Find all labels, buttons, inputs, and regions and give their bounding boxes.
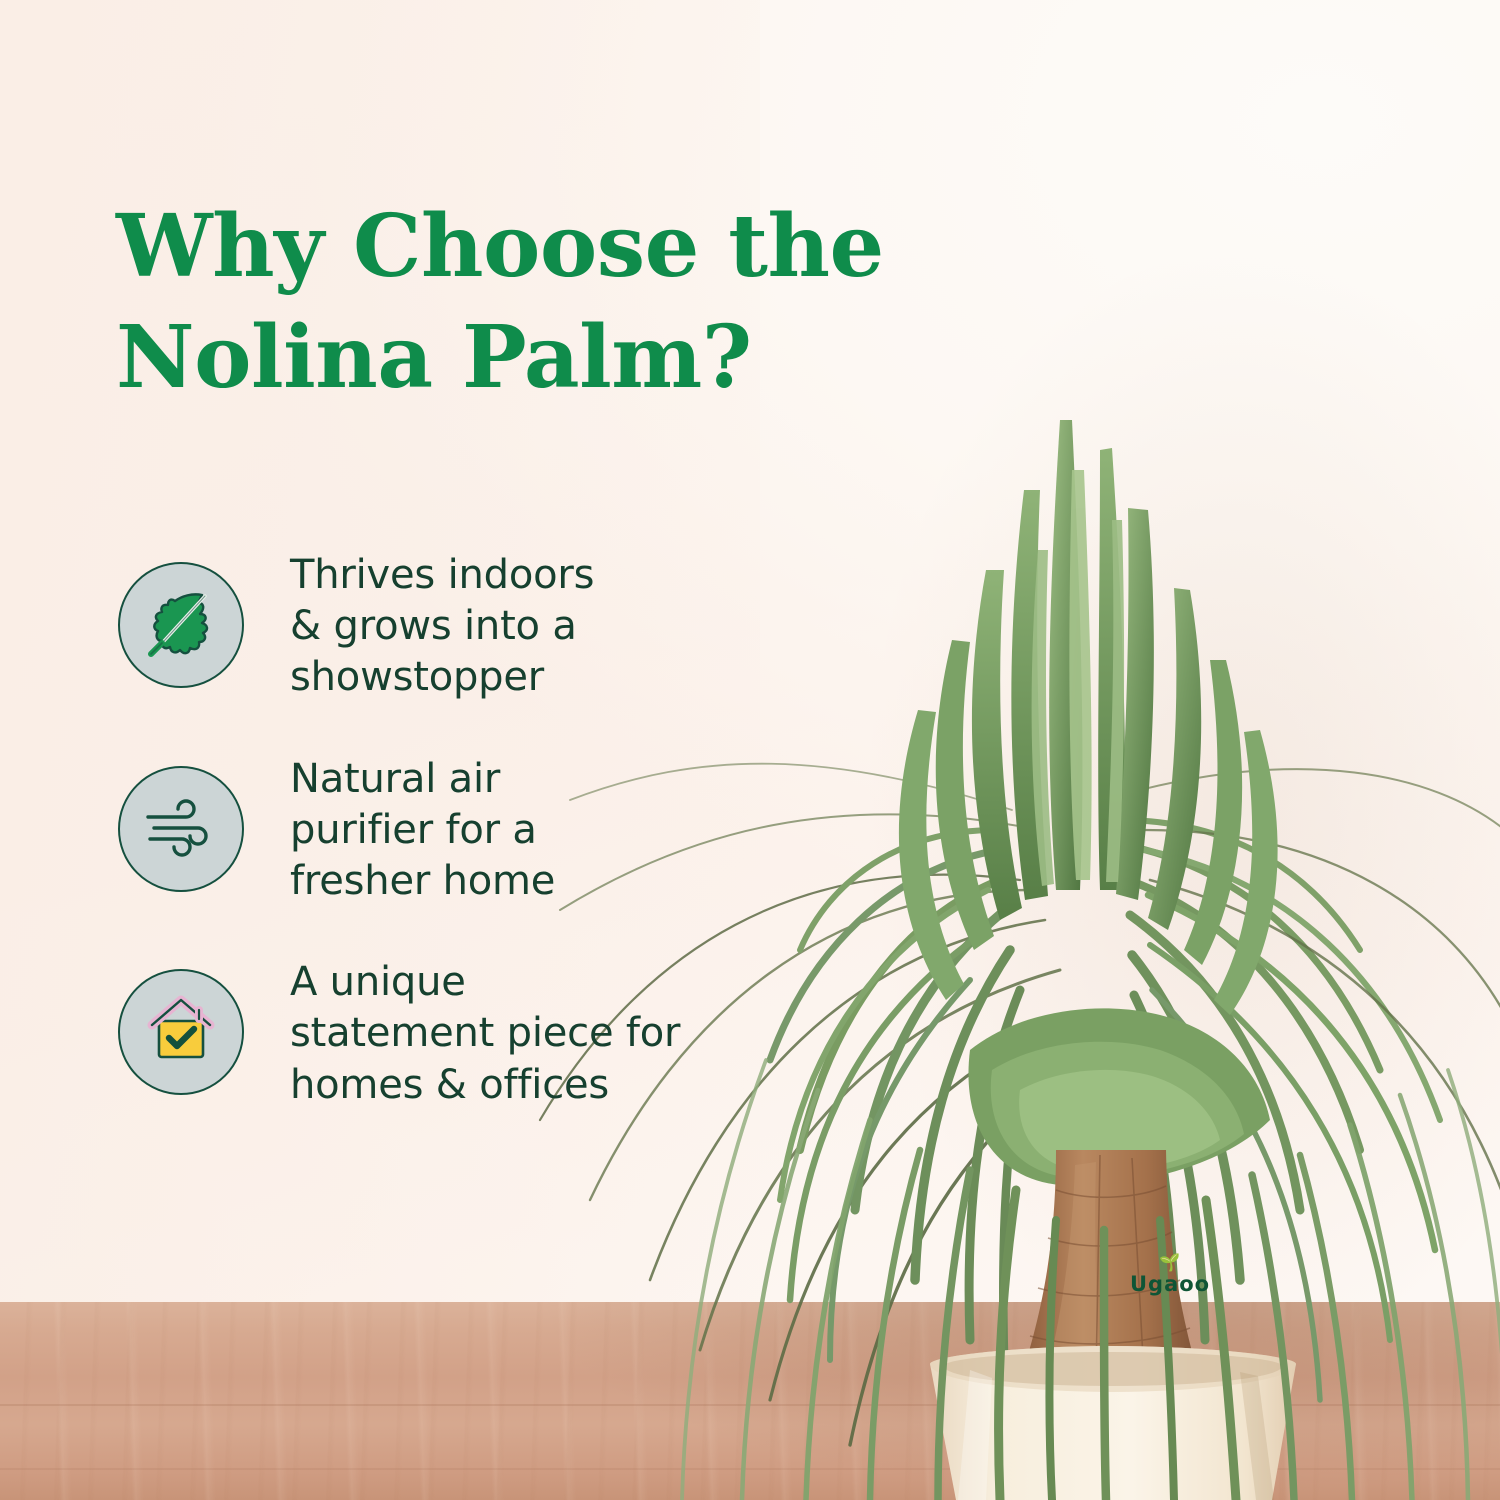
sprout-icon: 🌱: [1159, 1255, 1181, 1272]
leaf-icon: [142, 584, 220, 667]
floor-contact-shadow: [0, 1302, 1500, 1500]
benefit-text: Thrives indoors & grows into a showstopp…: [290, 548, 594, 704]
floor-plank-seam: [0, 1468, 1500, 1470]
list-item: A unique statement piece for homes & off…: [118, 955, 758, 1111]
wind-icon: [142, 787, 220, 870]
benefits-list: Thrives indoors & grows into a showstopp…: [118, 548, 758, 1111]
benefit-icon-badge: [118, 766, 244, 892]
pot-brand-label: Ugaoo: [1130, 1274, 1210, 1295]
house-check-icon: [142, 991, 220, 1074]
list-item: Natural air purifier for a fresher home: [118, 752, 758, 908]
benefit-icon-badge: [118, 969, 244, 1095]
pot-brand-logo: 🌱 Ugaoo: [1130, 1255, 1210, 1295]
list-item: Thrives indoors & grows into a showstopp…: [118, 548, 758, 704]
page-title: Why Choose the Nolina Palm?: [116, 191, 976, 415]
promo-banner: 🌱 Ugaoo Why Choose the Nolina Palm? Thri…: [0, 0, 1500, 1500]
benefit-text: A unique statement piece for homes & off…: [290, 955, 680, 1111]
benefit-icon-badge: [118, 562, 244, 688]
benefit-text: Natural air purifier for a fresher home: [290, 752, 555, 908]
floor-plank-seam: [0, 1404, 1500, 1406]
